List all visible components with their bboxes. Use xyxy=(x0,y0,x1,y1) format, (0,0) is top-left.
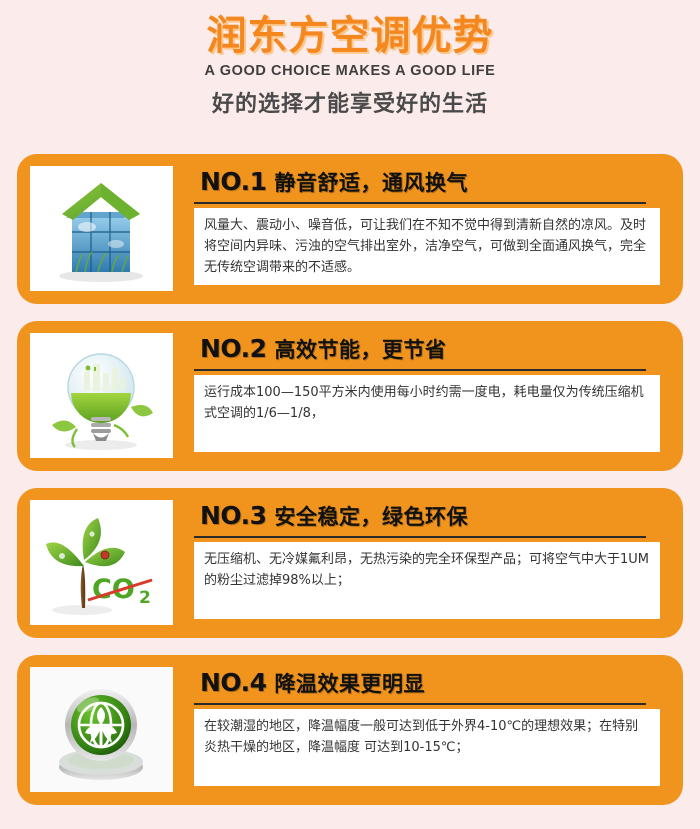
card-heading-text: 降温效果更明显 xyxy=(275,668,426,698)
card-thumbnail: CO 2 xyxy=(30,500,173,625)
card-heading: NO.4 降温效果更明显 xyxy=(194,668,671,698)
feature-card-list: NO.1 静音舒适，通风换气 风量大、震动小、噪音低，可让我们在不知不觉中得到清… xyxy=(0,154,700,805)
feature-card: NO.2 高效节能，更节省 运行成本100—150平方米内使用每小时约需一度电，… xyxy=(17,321,683,471)
card-number-label: NO.4 xyxy=(200,668,267,697)
card-thumbnail xyxy=(30,166,173,291)
feature-card: NO.1 静音舒适，通风换气 风量大、震动小、噪音低，可让我们在不知不觉中得到清… xyxy=(17,154,683,304)
card-description: 在较潮湿的地区，降温幅度一般可达到低于外界4-10℃的理想效果；在特别炎热干燥的… xyxy=(194,709,660,786)
card-heading-text: 高效节能，更节省 xyxy=(275,334,447,364)
card-description: 无压缩机、无冷媒氟利昂，无热污染的完全环保型产品；可将空气中大于1UM的粉尘过滤… xyxy=(194,542,660,619)
sapling-co2-crossed-out-icon: CO 2 xyxy=(30,500,173,625)
feature-card: CO 2 NO.3 安全稳定，绿色环保 无压缩机、无冷媒氟利昂，无热污染的完全环… xyxy=(17,488,683,638)
card-heading: NO.1 静音舒适，通风换气 xyxy=(194,167,671,197)
card-heading: NO.2 高效节能，更节省 xyxy=(194,334,671,364)
card-heading: NO.3 安全稳定，绿色环保 xyxy=(194,501,671,531)
heading-underline xyxy=(194,536,646,538)
heading-underline xyxy=(194,369,646,371)
card-heading-text: 安全稳定，绿色环保 xyxy=(275,501,469,531)
green-roof-glass-house-icon xyxy=(30,166,173,291)
svg-text:2: 2 xyxy=(139,588,151,608)
card-thumbnail xyxy=(30,333,173,458)
card-description: 风量大、震动小、噪音低，可让我们在不知不觉中得到清新自然的凉风。及时将空间内异味… xyxy=(194,208,660,285)
subtitle-english: A GOOD CHOICE MAKES A GOOD LIFE xyxy=(0,63,700,79)
feature-card: NO.4 降温效果更明显 在较潮湿的地区，降温幅度一般可达到低于外界4-10℃的… xyxy=(17,655,683,805)
card-number-label: NO.3 xyxy=(200,501,267,530)
eco-lightbulb-green-city-icon xyxy=(30,333,173,458)
card-heading-text: 静音舒适，通风换气 xyxy=(275,167,469,197)
infographic-page: 润东方空调优势 A GOOD CHOICE MAKES A GOOD LIFE … xyxy=(0,0,700,829)
card-description: 运行成本100—150平方米内使用每小时约需一度电，耗电量仅为传统压缩机式空调的… xyxy=(194,375,660,452)
page-header: 润东方空调优势 A GOOD CHOICE MAKES A GOOD LIFE … xyxy=(0,0,700,118)
green-globe-leaf-emblem-icon xyxy=(30,667,173,792)
card-body: NO.1 静音舒适，通风换气 风量大、震动小、噪音低，可让我们在不知不觉中得到清… xyxy=(194,166,671,285)
heading-underline xyxy=(194,202,646,204)
card-body: NO.3 安全稳定，绿色环保 无压缩机、无冷媒氟利昂，无热污染的完全环保型产品；… xyxy=(194,500,671,619)
heading-underline xyxy=(194,703,646,705)
card-number-label: NO.2 xyxy=(200,334,267,363)
card-body: NO.4 降温效果更明显 在较潮湿的地区，降温幅度一般可达到低于外界4-10℃的… xyxy=(194,667,671,786)
page-title: 润东方空调优势 xyxy=(0,14,700,59)
card-thumbnail xyxy=(30,667,173,792)
subtitle-chinese: 好的选择才能享受好的生活 xyxy=(0,86,700,118)
card-body: NO.2 高效节能，更节省 运行成本100—150平方米内使用每小时约需一度电，… xyxy=(194,333,671,452)
svg-text:CO: CO xyxy=(92,574,135,605)
card-number-label: NO.1 xyxy=(200,167,267,196)
